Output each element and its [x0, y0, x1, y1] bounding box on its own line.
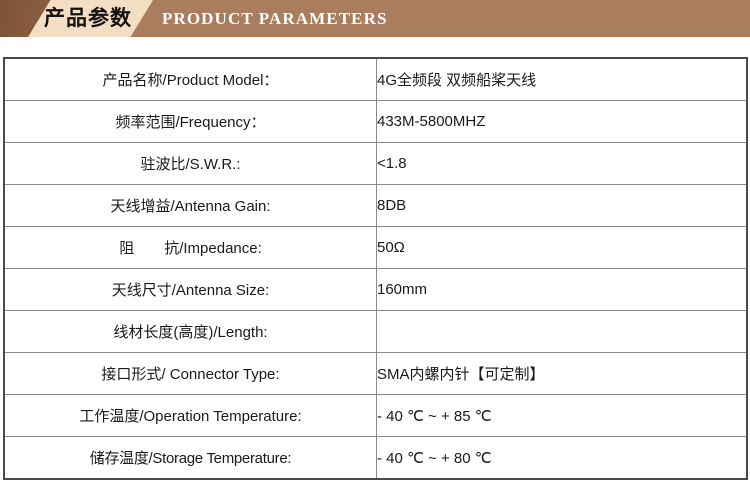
parameter-label: 工作温度/Operation Temperature:: [5, 405, 376, 426]
table-row: 线材长度(高度)/Length:: [4, 311, 747, 353]
parameter-value: <1.8: [377, 155, 746, 172]
parameter-value-cell: 4G全频段 双频船桨天线: [377, 58, 747, 101]
parameter-value-cell: SMA内螺内针【可定制】: [377, 353, 747, 395]
parameter-value-cell: 433M-5800MHZ: [377, 101, 747, 143]
parameter-label-cell: 阻 抗/Impedance:: [4, 227, 377, 269]
parameter-label-cell: 频率范围/Frequency：: [4, 101, 377, 143]
parameter-value-cell: <1.8: [377, 143, 747, 185]
banner-title-english: PRODUCT PARAMETERS: [162, 0, 388, 37]
parameter-label: 线材长度(高度)/Length:: [5, 321, 376, 342]
parameter-label-cell: 驻波比/S.W.R.:: [4, 143, 377, 185]
parameter-value-cell: [377, 311, 747, 353]
parameter-label-cell: 线材长度(高度)/Length:: [4, 311, 377, 353]
page-header-banner: 产品参数 PRODUCT PARAMETERS: [0, 0, 750, 37]
parameter-value: 4G全频段 双频船桨天线: [377, 69, 746, 90]
parameter-value: - 40 ℃ ~ + 80 ℃: [377, 449, 746, 467]
parameter-label: 天线增益/Antenna Gain:: [5, 195, 376, 216]
parameter-value: SMA内螺内针【可定制】: [377, 363, 746, 384]
parameter-value-cell: - 40 ℃ ~ + 85 ℃: [377, 395, 747, 437]
parameter-label-cell: 天线增益/Antenna Gain:: [4, 185, 377, 227]
table-row: 驻波比/S.W.R.: <1.8: [4, 143, 747, 185]
table-body: 产品名称/Product Model： 4G全频段 双频船桨天线 频率范围/Fr…: [4, 58, 747, 479]
table-row: 工作温度/Operation Temperature: - 40 ℃ ~ + 8…: [4, 395, 747, 437]
table-row: 储存温度/Storage Temperature: - 40 ℃ ~ + 80 …: [4, 437, 747, 480]
parameter-label: 频率范围/Frequency：: [5, 111, 376, 132]
parameter-value-cell: 50Ω: [377, 227, 747, 269]
parameter-label: 阻 抗/Impedance:: [5, 237, 376, 258]
table-row: 阻 抗/Impedance: 50Ω: [4, 227, 747, 269]
table-row: 频率范围/Frequency： 433M-5800MHZ: [4, 101, 747, 143]
parameter-value: 433M-5800MHZ: [377, 113, 746, 130]
table-row: 产品名称/Product Model： 4G全频段 双频船桨天线: [4, 58, 747, 101]
parameter-label: 储存温度/Storage Temperature:: [5, 447, 376, 468]
parameter-value-cell: 8DB: [377, 185, 747, 227]
table-row: 天线尺寸/Antenna Size: 160mm: [4, 269, 747, 311]
parameter-value: 50Ω: [377, 239, 746, 256]
parameter-value: 8DB: [377, 197, 746, 214]
product-parameters-table: 产品名称/Product Model： 4G全频段 双频船桨天线 频率范围/Fr…: [3, 57, 748, 480]
banner-title-chinese: 产品参数: [44, 0, 132, 37]
parameter-label-cell: 储存温度/Storage Temperature:: [4, 437, 377, 480]
parameter-value-cell: 160mm: [377, 269, 747, 311]
parameter-label: 驻波比/S.W.R.:: [5, 153, 376, 174]
table-row: 天线增益/Antenna Gain: 8DB: [4, 185, 747, 227]
parameter-label-cell: 产品名称/Product Model：: [4, 58, 377, 101]
parameter-label: 产品名称/Product Model：: [5, 69, 376, 90]
parameter-label: 天线尺寸/Antenna Size:: [5, 279, 376, 300]
product-parameters-table-wrapper: 产品名称/Product Model： 4G全频段 双频船桨天线 频率范围/Fr…: [3, 57, 746, 480]
parameter-label: 接口形式/ Connector Type:: [5, 363, 376, 384]
parameter-value: 160mm: [377, 281, 746, 298]
parameter-value-cell: - 40 ℃ ~ + 80 ℃: [377, 437, 747, 480]
parameter-label-cell: 工作温度/Operation Temperature:: [4, 395, 377, 437]
parameter-value: - 40 ℃ ~ + 85 ℃: [377, 407, 746, 425]
table-row: 接口形式/ Connector Type: SMA内螺内针【可定制】: [4, 353, 747, 395]
parameter-label-cell: 接口形式/ Connector Type:: [4, 353, 377, 395]
parameter-label-cell: 天线尺寸/Antenna Size:: [4, 269, 377, 311]
